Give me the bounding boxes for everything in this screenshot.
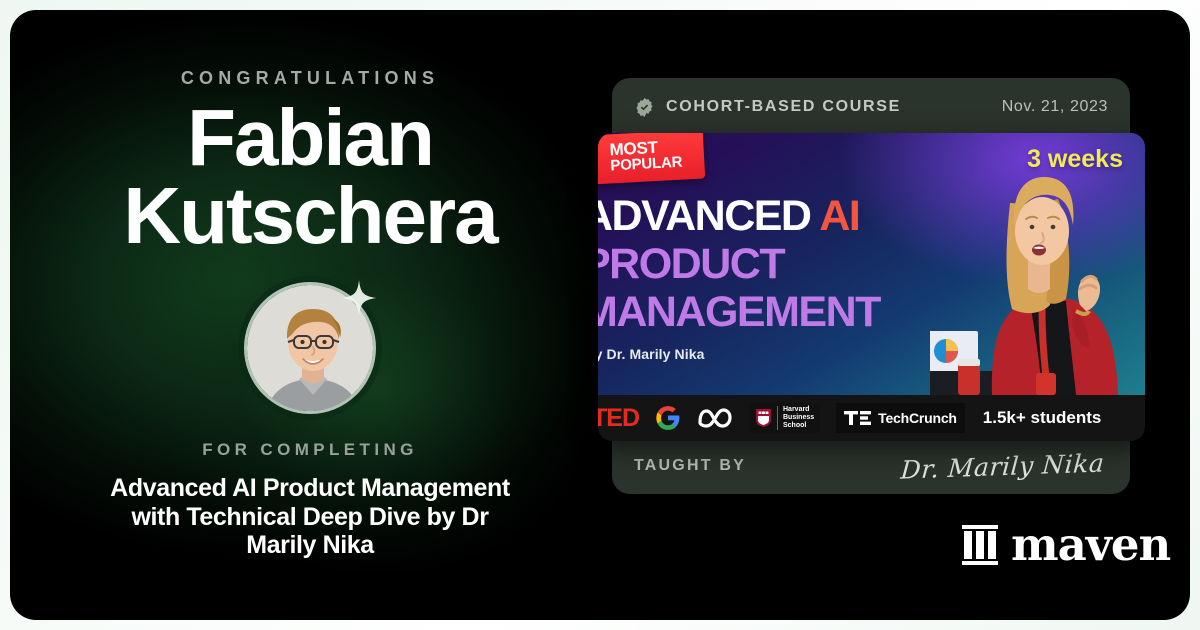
course-date: Nov. 21, 2023 — [1002, 98, 1108, 116]
techcrunch-wordmark: TechCrunch — [878, 410, 957, 426]
verified-badge-icon — [634, 97, 655, 118]
avatar-ring — [244, 282, 376, 414]
harvard-business-school-text: Harvard Business School — [777, 406, 814, 431]
course-thumbnail-artwork: MOST POPULAR 3 weeks ADVANCED AI PRODUCT… — [598, 133, 1145, 395]
avatar — [244, 282, 376, 414]
recipient-panel: CONGRATULATIONS Fabian Kutschera — [10, 10, 610, 620]
hbs-line-1: Harvard — [783, 406, 814, 414]
google-logo — [655, 403, 681, 433]
course-kind: COHORT-BASED COURSE — [634, 97, 901, 118]
techcrunch-logo: TechCrunch — [836, 403, 965, 433]
harvard-business-school-logo: Harvard Business School — [749, 403, 820, 433]
hbs-line-3: School — [783, 422, 814, 430]
thumbnail-title-line-2: PRODUCT — [598, 243, 784, 286]
social-proof-logobar: TED — [598, 395, 1145, 441]
ted-logo: TED — [598, 403, 639, 433]
taught-by-label: TAUGHT BY — [634, 457, 746, 475]
hbs-line-2: Business — [783, 414, 814, 422]
course-kind-label: COHORT-BASED COURSE — [666, 98, 901, 116]
most-popular-ribbon: MOST POPULAR — [598, 133, 705, 185]
recipient-name: Fabian Kutschera — [123, 99, 496, 256]
certificate-frame: CONGRATULATIONS Fabian Kutschera — [0, 0, 1200, 630]
course-duration-badge: 3 weeks — [1027, 145, 1123, 174]
maven-logo[interactable]: maven — [962, 522, 1170, 567]
course-thumbnail[interactable]: MOST POPULAR 3 weeks ADVANCED AI PRODUCT… — [598, 133, 1145, 441]
course-widget-header: COHORT-BASED COURSE Nov. 21, 2023 — [634, 78, 1108, 136]
for-completing-label: FOR COMPLETING — [202, 440, 418, 460]
instructor-signature: Dr. Marily Nika — [900, 448, 1110, 484]
course-title: Advanced AI Product Management with Tech… — [95, 474, 525, 560]
maven-wordmark: maven — [1011, 522, 1170, 567]
thumbnail-title-line-3: MANAGEMENT — [598, 291, 880, 334]
thumbnail-byline: by Dr. Marily Nika — [598, 346, 705, 362]
thumbnail-title-ai: AI — [819, 192, 859, 240]
thumbnail-title-advanced: ADVANCED — [598, 192, 819, 240]
student-count: 1.5k+ students — [983, 408, 1102, 428]
course-widget-footer: TAUGHT BY Dr. Marily Nika — [634, 438, 1108, 494]
ribbon-line-2: POPULAR — [610, 155, 683, 174]
maven-columns-icon — [962, 525, 998, 565]
congratulations-eyebrow: CONGRATULATIONS — [181, 68, 439, 89]
avatar-photo — [247, 285, 373, 411]
recipient-first-name: Fabian — [123, 99, 496, 177]
recipient-last-name: Kutschera — [123, 177, 496, 255]
certificate-card: CONGRATULATIONS Fabian Kutschera — [10, 10, 1190, 620]
meta-logo — [697, 403, 733, 433]
thumbnail-title-line-1: ADVANCED AI — [598, 195, 859, 238]
